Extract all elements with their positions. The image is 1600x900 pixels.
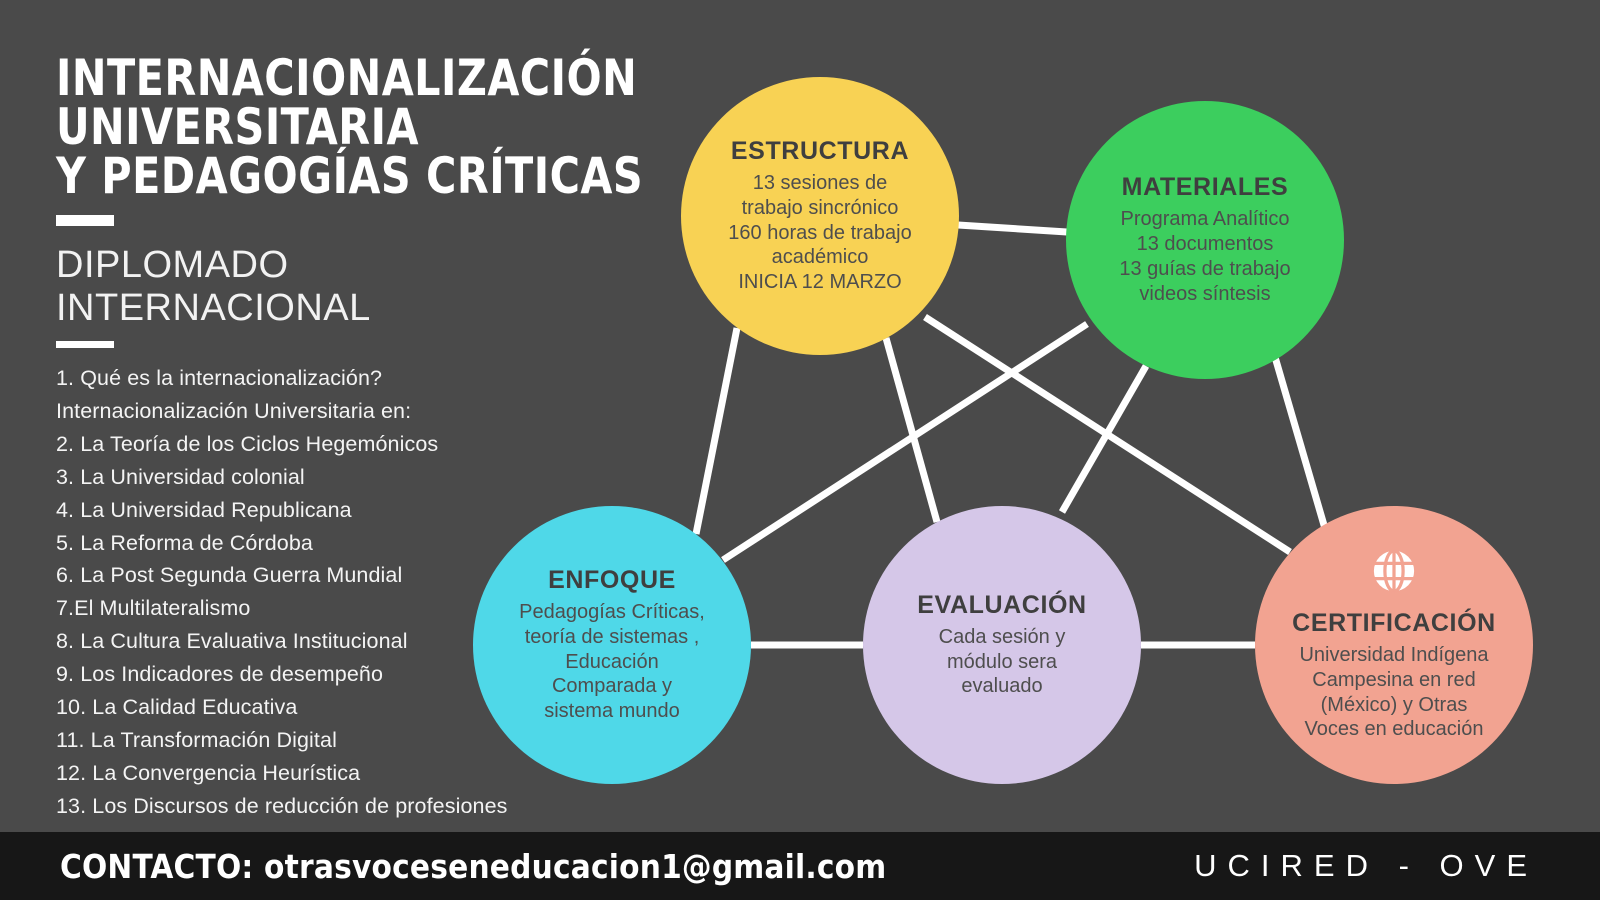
title-line-1: INTERNACIONALIZACIÓN xyxy=(56,54,626,103)
node-body: Universidad Indígena Campesina en red (M… xyxy=(1299,643,1488,742)
topic-list: 1. Qué es la internacionalización? Inter… xyxy=(56,362,676,822)
list-item: 13. Los Discursos de reducción de profes… xyxy=(56,790,676,823)
subtitle-line-1: DIPLOMADO xyxy=(56,244,676,287)
list-item: 6. La Post Segunda Guerra Mundial xyxy=(56,559,676,592)
list-item: Internacionalización Universitaria en: xyxy=(56,395,676,428)
subtitle-underline-bar xyxy=(56,341,114,348)
page-subtitle: DIPLOMADO INTERNACIONAL xyxy=(56,244,676,329)
list-item: 3. La Universidad colonial xyxy=(56,461,676,494)
link-materiales-evaluacion xyxy=(1062,366,1146,512)
node-certificacion[interactable]: CERTIFICACIÓN Universidad Indígena Campe… xyxy=(1255,506,1533,784)
node-title: MATERIALES xyxy=(1122,173,1289,202)
title-line-2: UNIVERSITARIA xyxy=(56,103,626,152)
node-body: Programa Analítico 13 documentos 13 guía… xyxy=(1119,207,1290,306)
list-item: 8. La Cultura Evaluativa Institucional xyxy=(56,625,676,658)
title-underline-bar xyxy=(56,215,114,226)
list-item: 5. La Reforma de Córdoba xyxy=(56,527,676,560)
list-item: 1. Qué es la internacionalización? xyxy=(56,362,676,395)
left-column: INTERNACIONALIZACIÓN UNIVERSITARIA Y PED… xyxy=(56,54,676,823)
node-evaluacion[interactable]: EVALUACIÓN Cada sesión y módulo sera eva… xyxy=(863,506,1141,784)
list-item: 11. La Transformación Digital xyxy=(56,724,676,757)
brand-text: UCIRED - OVE xyxy=(1194,848,1538,884)
link-materiales-certificacion xyxy=(1275,357,1326,532)
subtitle-line-2: INTERNACIONAL xyxy=(56,287,676,330)
page-title: INTERNACIONALIZACIÓN UNIVERSITARIA Y PED… xyxy=(56,54,626,201)
node-title: CERTIFICACIÓN xyxy=(1292,609,1496,638)
link-estructura-materiales xyxy=(958,225,1067,232)
list-item: 9. Los Indicadores de desempeño xyxy=(56,658,676,691)
infographic-poster: ESTRUCTURA 13 sesiones de trabajo sincró… xyxy=(0,0,1600,900)
list-item: 10. La Calidad Educativa xyxy=(56,691,676,724)
title-line-3: Y PEDAGOGÍAS CRÍTICAS xyxy=(56,152,626,201)
node-title: ESTRUCTURA xyxy=(731,137,909,166)
list-item: 12. La Convergencia Heurística xyxy=(56,757,676,790)
node-body: 13 sesiones de trabajo sincrónico 160 ho… xyxy=(728,171,911,295)
node-title: EVALUACIÓN xyxy=(917,591,1086,620)
contact-text[interactable]: CONTACTO: otrasvoceseneducacion1@gmail.c… xyxy=(60,847,886,886)
list-item: 4. La Universidad Republicana xyxy=(56,494,676,527)
list-item: 2. La Teoría de los Ciclos Hegemónicos xyxy=(56,428,676,461)
node-estructura[interactable]: ESTRUCTURA 13 sesiones de trabajo sincró… xyxy=(681,77,959,355)
footer-bar: CONTACTO: otrasvoceseneducacion1@gmail.c… xyxy=(0,832,1600,900)
link-estructura-enfoque xyxy=(696,328,737,534)
node-materiales[interactable]: MATERIALES Programa Analítico 13 documen… xyxy=(1066,101,1344,379)
node-body: Cada sesión y módulo sera evaluado xyxy=(939,625,1066,699)
globe-icon xyxy=(1371,548,1417,599)
list-item: 7.El Multilateralismo xyxy=(56,592,676,625)
